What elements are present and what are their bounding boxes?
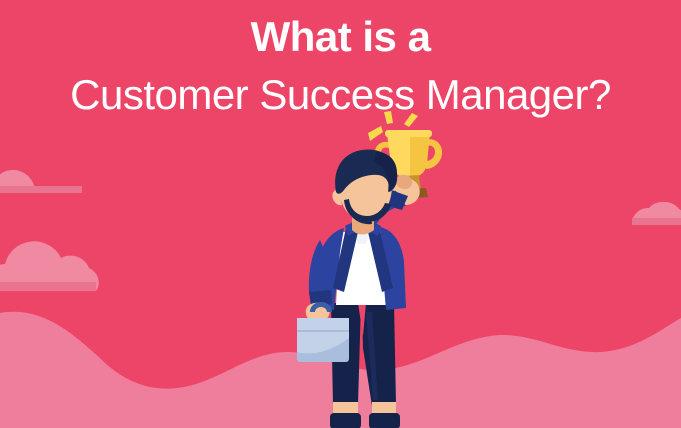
character-layer: [0, 0, 681, 428]
illustration-canvas: What is a Customer Success Manager?: [0, 0, 681, 428]
shoes: [330, 402, 400, 428]
